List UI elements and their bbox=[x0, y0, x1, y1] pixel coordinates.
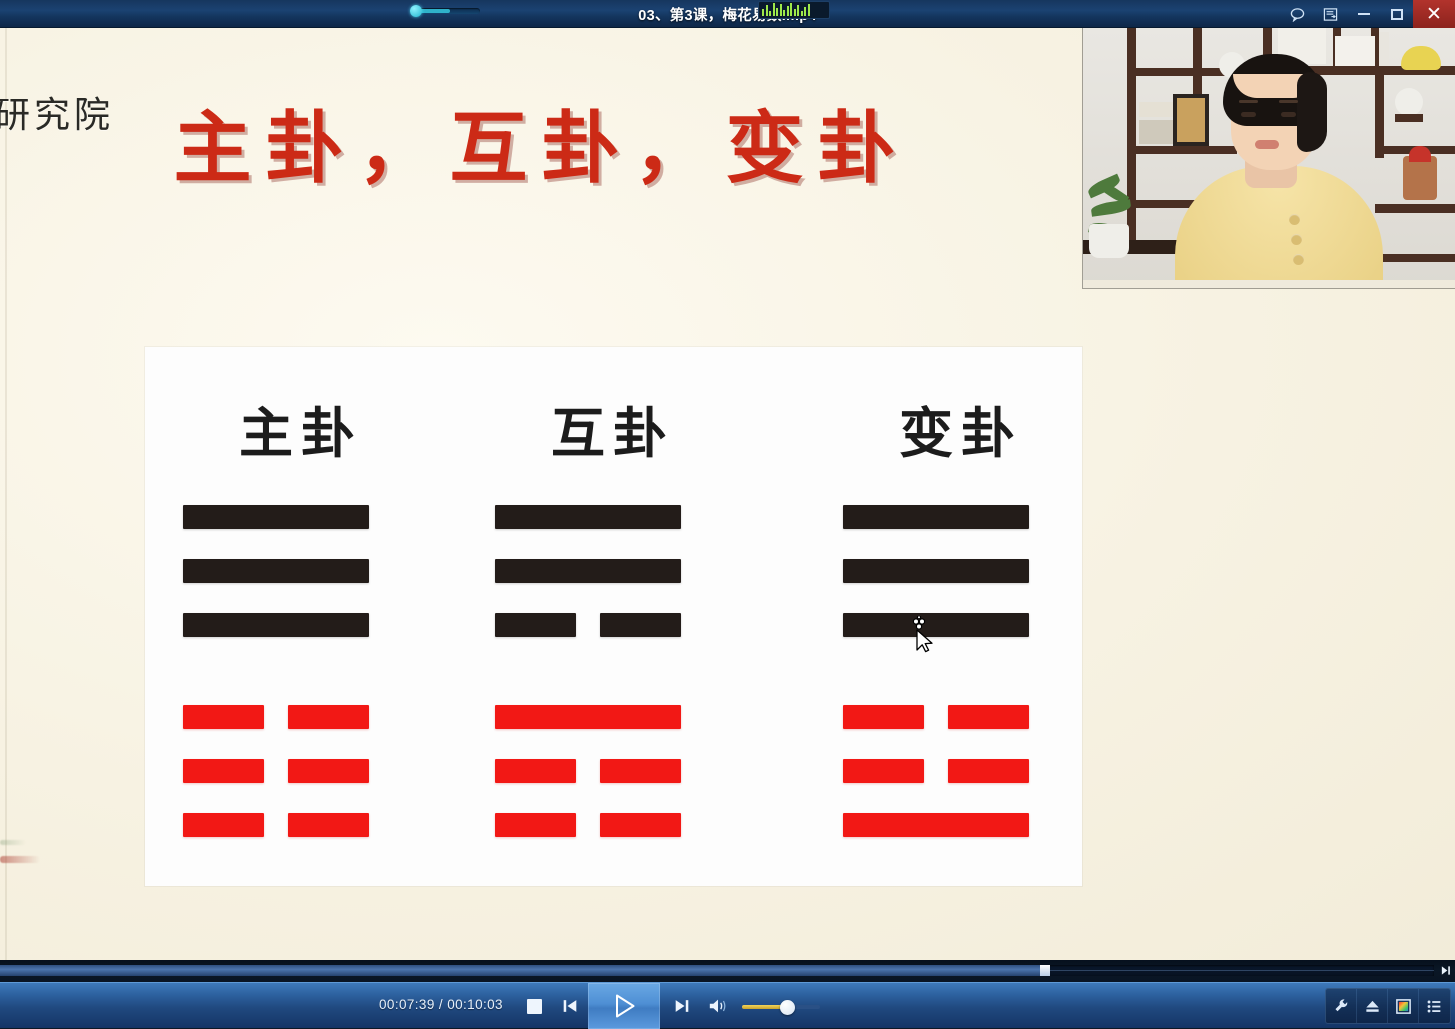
lower-trigram bbox=[145, 705, 457, 837]
close-button[interactable]: ✕ bbox=[1413, 0, 1455, 28]
yao-segment bbox=[843, 613, 1029, 637]
yao-line bbox=[457, 759, 769, 783]
stop-button[interactable] bbox=[517, 983, 551, 1029]
settings-button[interactable] bbox=[1326, 989, 1357, 1023]
yao-segment-left bbox=[183, 705, 264, 729]
seek-bar-progress bbox=[0, 965, 1048, 976]
seek-bar[interactable] bbox=[0, 965, 1434, 976]
yao-line bbox=[145, 613, 457, 637]
play-button[interactable] bbox=[588, 983, 660, 1029]
yao-segment bbox=[495, 505, 681, 529]
yao-segment-right bbox=[600, 759, 681, 783]
playlist-icon bbox=[1426, 998, 1443, 1015]
volume-knob[interactable] bbox=[780, 1000, 795, 1015]
seek-next-button[interactable] bbox=[1437, 963, 1453, 978]
comment-icon bbox=[1290, 7, 1305, 22]
volume-button[interactable] bbox=[702, 983, 734, 1029]
time-display: 00:07:39 / 00:10:03 bbox=[379, 997, 503, 1012]
seek-bar-handle[interactable] bbox=[1040, 965, 1050, 976]
yao-line bbox=[145, 813, 457, 837]
yao-segment-left bbox=[843, 759, 924, 783]
eject-icon bbox=[1364, 998, 1381, 1015]
equalizer-indicator bbox=[758, 1, 830, 19]
yao-line bbox=[457, 813, 769, 837]
yao-line bbox=[145, 505, 457, 529]
eject-button[interactable] bbox=[1357, 989, 1388, 1023]
yao-segment bbox=[843, 505, 1029, 529]
volume-icon bbox=[708, 997, 728, 1015]
presenter-hair-side bbox=[1297, 72, 1327, 152]
column-header: 互卦 bbox=[457, 389, 769, 468]
webcam-bottom-band bbox=[1083, 280, 1455, 288]
window-controls: ✕ bbox=[1281, 0, 1455, 28]
yao-segment bbox=[495, 559, 681, 583]
upper-trigram bbox=[457, 505, 769, 637]
play-icon bbox=[609, 991, 639, 1021]
wrench-icon bbox=[1333, 998, 1350, 1015]
column-header: 变卦 bbox=[805, 389, 1117, 468]
yao-line bbox=[457, 505, 769, 529]
yao-line bbox=[805, 505, 1117, 529]
slide-title: 主卦，互卦，变卦 bbox=[0, 110, 1083, 188]
stop-icon bbox=[527, 999, 542, 1014]
yao-line bbox=[145, 559, 457, 583]
yao-segment-left bbox=[495, 759, 576, 783]
slide-mark-red bbox=[0, 856, 40, 863]
yao-segment-left bbox=[495, 613, 576, 637]
upper-trigram bbox=[805, 505, 1117, 637]
playlist-icon bbox=[1323, 7, 1338, 22]
yao-segment bbox=[843, 559, 1029, 583]
yao-segment-right bbox=[948, 759, 1029, 783]
yao-segment bbox=[183, 505, 369, 529]
hexagram-column-hugua: 互卦 bbox=[457, 347, 769, 886]
yao-line bbox=[457, 559, 769, 583]
capture-button[interactable] bbox=[1388, 989, 1419, 1023]
yao-segment-left bbox=[843, 705, 924, 729]
yao-line bbox=[457, 613, 769, 637]
yao-segment-left bbox=[495, 813, 576, 837]
yao-segment-right bbox=[600, 613, 681, 637]
next-button[interactable] bbox=[665, 983, 699, 1029]
slide-mark-green bbox=[0, 840, 26, 845]
yao-line bbox=[145, 705, 457, 729]
yao-line bbox=[805, 559, 1117, 583]
yao-line bbox=[805, 705, 1117, 729]
hexagram-card: 主卦 互卦 bbox=[145, 347, 1082, 886]
comment-button[interactable] bbox=[1281, 0, 1314, 28]
player-control-bar: 00:07:39 / 00:10:03 bbox=[0, 982, 1455, 1028]
yao-line bbox=[145, 759, 457, 783]
yao-line bbox=[805, 613, 1117, 637]
plant-pot bbox=[1089, 224, 1129, 258]
seek-bar-area[interactable] bbox=[0, 960, 1455, 982]
maximize-button[interactable] bbox=[1380, 0, 1413, 28]
yao-line bbox=[805, 813, 1117, 837]
minimize-icon bbox=[1358, 13, 1370, 15]
yao-segment-right bbox=[288, 813, 369, 837]
hexagram-column-biangua: 变卦 bbox=[805, 347, 1117, 886]
column-header: 主卦 bbox=[145, 389, 457, 468]
shelf-jar bbox=[1403, 156, 1437, 200]
next-marker-icon bbox=[1440, 965, 1451, 976]
previous-track-icon bbox=[561, 997, 579, 1015]
previous-button[interactable] bbox=[553, 983, 587, 1029]
maximize-icon bbox=[1391, 9, 1403, 20]
minimize-button[interactable] bbox=[1347, 0, 1380, 28]
yao-segment bbox=[183, 559, 369, 583]
yao-line bbox=[457, 705, 769, 729]
playlist-toggle-button[interactable] bbox=[1419, 989, 1450, 1023]
yao-segment-right bbox=[948, 705, 1029, 729]
lower-trigram bbox=[457, 705, 769, 837]
next-track-icon bbox=[673, 997, 691, 1015]
window-title: 03、第3课，梅花易数.mp4 bbox=[0, 0, 1455, 28]
seek-bar-remaining bbox=[1050, 970, 1434, 971]
title-bar: 03、第3课，梅花易数.mp4 ✕ bbox=[0, 0, 1455, 28]
yao-segment-left bbox=[183, 813, 264, 837]
yao-segment-right bbox=[288, 759, 369, 783]
presenter-mouth bbox=[1255, 140, 1279, 149]
yao-line bbox=[805, 759, 1117, 783]
yao-segment-right bbox=[600, 813, 681, 837]
yao-segment bbox=[183, 613, 369, 637]
lower-trigram bbox=[805, 705, 1117, 837]
upper-trigram bbox=[145, 505, 457, 637]
volume-slider[interactable] bbox=[742, 1003, 820, 1011]
titlebar-slider-knob[interactable] bbox=[410, 5, 422, 17]
capture-icon bbox=[1395, 998, 1412, 1015]
yao-segment bbox=[843, 813, 1029, 837]
titlebar-slider[interactable] bbox=[408, 4, 480, 17]
playlist-button[interactable] bbox=[1314, 0, 1347, 28]
yao-segment bbox=[495, 705, 681, 729]
yao-segment-right bbox=[288, 705, 369, 729]
video-stage[interactable]: 研究院 主卦，互卦，变卦 主卦 互卦 bbox=[0, 28, 1455, 960]
player-tools-group bbox=[1325, 988, 1451, 1024]
yao-segment-left bbox=[183, 759, 264, 783]
presenter-webcam[interactable] bbox=[1083, 28, 1455, 288]
hexagram-column-zhugua: 主卦 bbox=[145, 347, 457, 886]
